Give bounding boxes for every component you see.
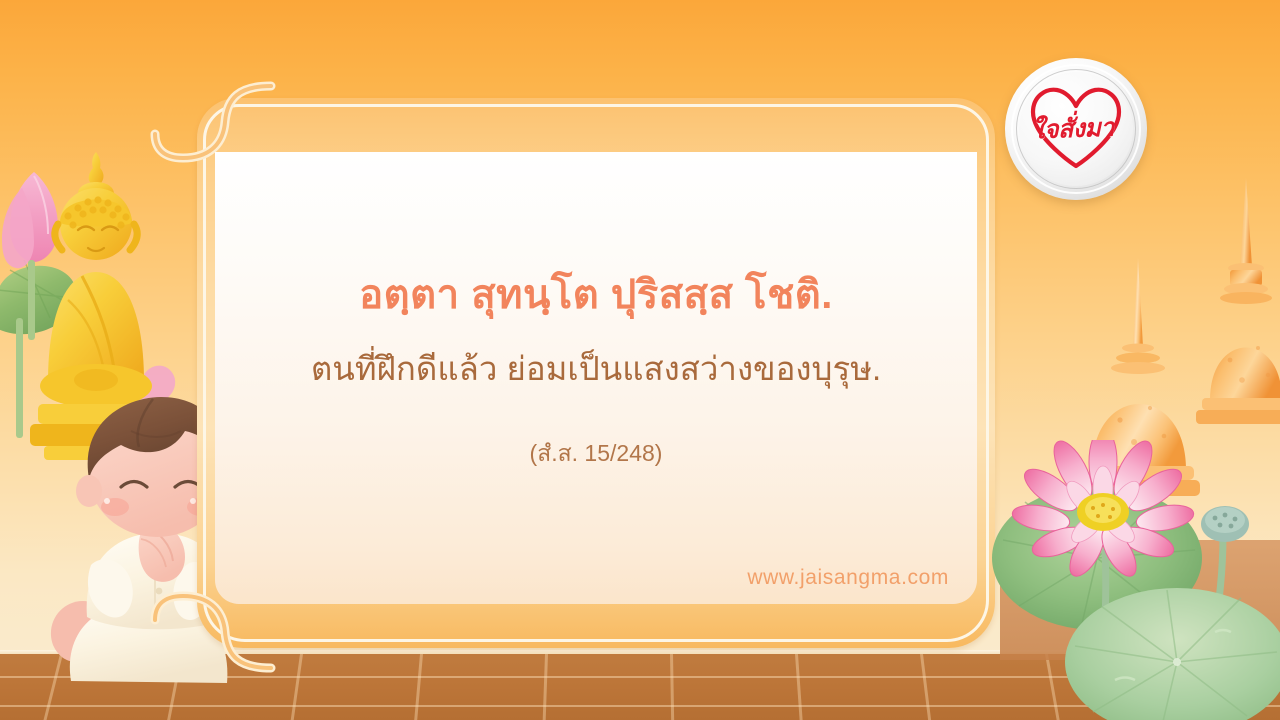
lotus-flower [1010,440,1195,581]
quote-thai-line: ตนที่ฝึกดีแล้ว ย่อมเป็นแสงสว่างของบุรุษ. [311,346,881,392]
floor-grid-line [1170,654,1188,720]
lotus-leaf [0,266,76,334]
lotus-center [1077,493,1129,531]
pagoda-front [1090,258,1200,496]
ornamental-frame: อตฺตา สุทนฺโต ปุริสสฺส โชติ. ตนที่ฝึกดีแ… [185,88,1025,664]
lotus-seed-pod [1201,506,1249,636]
quote-panel: อตฺตา สุทนฺโต ปุริสสฺส โชติ. ตนที่ฝึกดีแ… [215,152,977,604]
quote-pali-line: อตฺตา สุทนฺโต ปุริสสฺส โชติ. [359,268,833,322]
floor-grid-line [44,654,63,720]
brand-logo-badge[interactable]: ใจสั่งมา [1005,58,1147,200]
quote-reference: (สํ.ส. 15/248) [530,436,663,472]
lotus-petal-accent [140,366,175,405]
brand-logo-text: ใจสั่งมา [1000,56,1147,203]
quote-content: อตฺตา สุทนฺโต ปุริสสฺส โชติ. ตนที่ฝึกดีแ… [215,152,977,604]
child-hands [139,521,185,582]
shirt-button [156,588,163,595]
buddha-figure [30,152,162,460]
lotus-stem [16,318,23,438]
floor-grid-line [0,676,1280,678]
lotus-bud [2,172,58,340]
pagoda-group [1090,170,1280,570]
floor-grid-line [1045,654,1060,720]
floor-grid-line [167,654,183,720]
quote-card-canvas: อตฺตา สุทนฺโต ปุริสสฺส โชติ. ตนที่ฝึกดีแ… [0,0,1280,720]
floor-grid-line [0,705,1280,707]
pagoda-back [1196,178,1280,424]
floor-right-extension [1000,540,1280,660]
website-watermark: www.jaisangma.com [747,566,949,590]
child-eye-left [121,482,147,488]
